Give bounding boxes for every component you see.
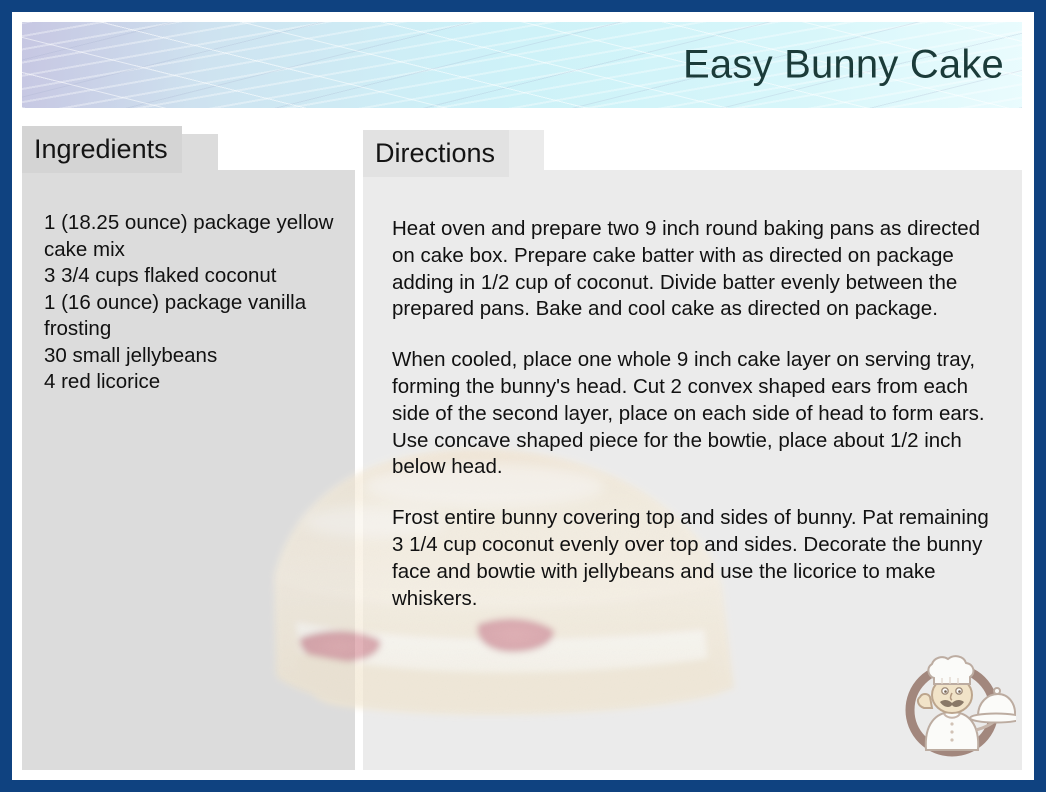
list-item: 4 red licorice [44, 369, 349, 396]
directions-paragraph: When cooled, place one whole 9 inch cake… [392, 347, 1004, 481]
recipe-card-page: Easy Bunny Cake Heat oven and prepare tw… [0, 0, 1046, 792]
page-title: Easy Bunny Cake [683, 43, 1004, 88]
column-gutter [355, 116, 363, 770]
directions-paragraph: Frost entire bunny covering top and side… [392, 505, 1004, 612]
ingredients-header-notch [22, 116, 363, 126]
list-item: 3 3/4 cups flaked coconut [44, 263, 349, 290]
ingredients-heading: Ingredients [22, 126, 182, 173]
directions-text: Heat oven and prepare two 9 inch round b… [392, 216, 1004, 612]
list-item: 1 (18.25 ounce) package yellow cake mix [44, 210, 349, 263]
recipe-card: Easy Bunny Cake Heat oven and prepare tw… [22, 22, 1022, 770]
directions-header-notch [363, 116, 1022, 130]
chef-logo [888, 646, 1016, 768]
directions-heading: Directions [363, 130, 509, 177]
list-item: 30 small jellybeans [44, 343, 349, 370]
directions-paragraph: Heat oven and prepare two 9 inch round b… [392, 216, 1004, 323]
list-item: 1 (16 ounce) package vanilla frosting [44, 290, 349, 343]
ingredients-list: 1 (18.25 ounce) package yellow cake mix … [44, 210, 349, 396]
ingredients-header-right-gap [218, 126, 363, 170]
directions-header-right-gap [544, 130, 1022, 170]
title-banner: Easy Bunny Cake [22, 22, 1022, 108]
